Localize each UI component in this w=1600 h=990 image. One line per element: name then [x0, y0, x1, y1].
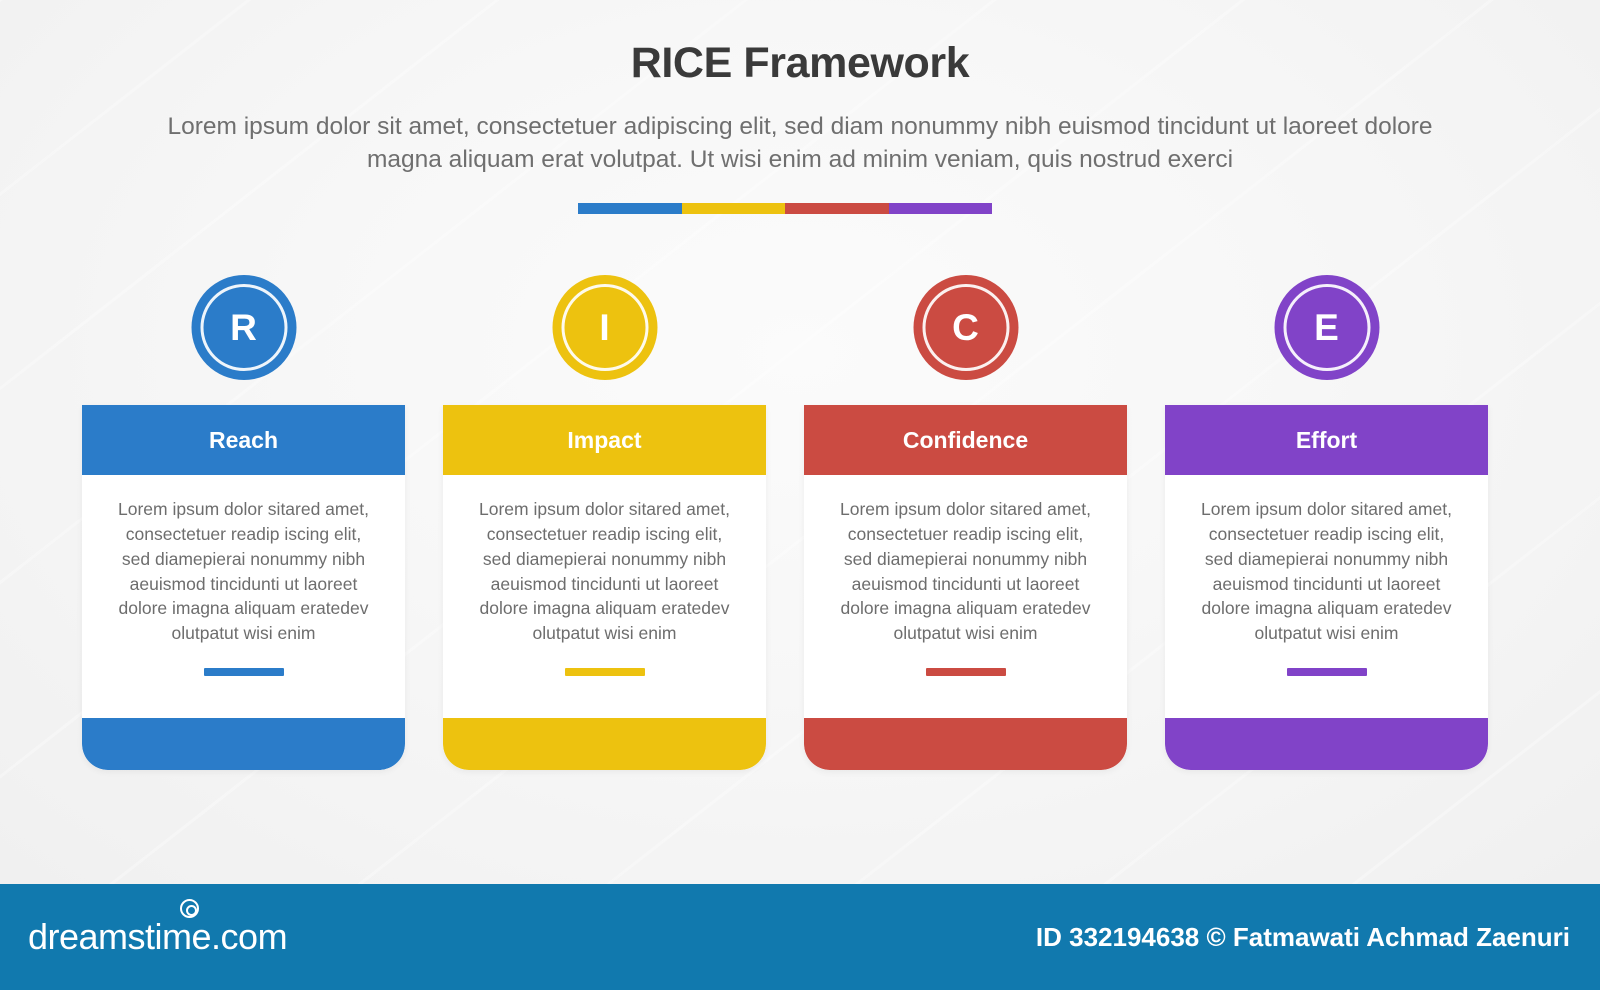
panel-body: Lorem ipsum dolor sitared amet, consecte… [443, 475, 766, 718]
panel-title: Effort [1296, 427, 1357, 454]
panel: EffortLorem ipsum dolor sitared amet, co… [1165, 405, 1488, 770]
panel-header: Reach [82, 405, 405, 475]
panel-footer-strip [443, 718, 766, 770]
panel-title: Confidence [903, 427, 1028, 454]
divider-segment-3 [785, 203, 889, 214]
badge-letter: E [1314, 309, 1339, 346]
panel-body: Lorem ipsum dolor sitared amet, consecte… [804, 475, 1127, 718]
panel-footer-strip [804, 718, 1127, 770]
cards-row: RReachLorem ipsum dolor sitared amet, co… [82, 275, 1488, 770]
accent-bar [565, 668, 645, 676]
card-effort[interactable]: EEffortLorem ipsum dolor sitared amet, c… [1165, 275, 1488, 770]
card-confidence[interactable]: CConfidenceLorem ipsum dolor sitared ame… [804, 275, 1127, 770]
badge-c: C [913, 275, 1018, 380]
accent-bar [926, 668, 1006, 676]
panel-footer-strip [1165, 718, 1488, 770]
card-impact[interactable]: IImpactLorem ipsum dolor sitared amet, c… [443, 275, 766, 770]
page-subtitle: Lorem ipsum dolor sit amet, consectetuer… [130, 111, 1470, 176]
panel-body: Lorem ipsum dolor sitared amet, consecte… [82, 475, 405, 718]
panel-description: Lorem ipsum dolor sitared amet, consecte… [1198, 497, 1456, 646]
dreamstime-logo: dreamstime.com [28, 916, 287, 958]
panel-header: Effort [1165, 405, 1488, 475]
badge-letter: I [599, 309, 609, 346]
panel-description: Lorem ipsum dolor sitared amet, consecte… [476, 497, 734, 646]
accent-bar [204, 668, 284, 676]
panel-header: Impact [443, 405, 766, 475]
card-reach[interactable]: RReachLorem ipsum dolor sitared amet, co… [82, 275, 405, 770]
panel: ConfidenceLorem ipsum dolor sitared amet… [804, 405, 1127, 770]
infographic-canvas: RICE Framework Lorem ipsum dolor sit ame… [0, 0, 1600, 884]
accent-bar [1287, 668, 1367, 676]
image-credit: ID 332194638 © Fatmawati Achmad Zaenuri [1036, 922, 1570, 953]
panel: ReachLorem ipsum dolor sitared amet, con… [82, 405, 405, 770]
panel-header: Confidence [804, 405, 1127, 475]
panel-footer-strip [82, 718, 405, 770]
panel-description: Lorem ipsum dolor sitared amet, consecte… [837, 497, 1095, 646]
brand-text: dreamstime.com [28, 916, 287, 958]
footer-bar: dreamstime.com ID 332194638 © Fatmawati … [0, 884, 1600, 990]
panel-body: Lorem ipsum dolor sitared amet, consecte… [1165, 475, 1488, 718]
badge-r: R [191, 275, 296, 380]
badge-letter: C [952, 309, 979, 346]
page-title: RICE Framework [0, 40, 1600, 87]
divider-segment-1 [578, 203, 682, 214]
panel-title: Impact [567, 427, 641, 454]
divider-segment-2 [682, 203, 786, 214]
panel: ImpactLorem ipsum dolor sitared amet, co… [443, 405, 766, 770]
header: RICE Framework Lorem ipsum dolor sit ame… [0, 40, 1600, 176]
spiral-icon [180, 899, 199, 918]
color-divider [578, 203, 992, 214]
badge-i: I [552, 275, 657, 380]
divider-segment-4 [889, 203, 993, 214]
badge-e: E [1274, 275, 1379, 380]
badge-letter: R [230, 309, 257, 346]
panel-description: Lorem ipsum dolor sitared amet, consecte… [115, 497, 373, 646]
panel-title: Reach [209, 427, 278, 454]
